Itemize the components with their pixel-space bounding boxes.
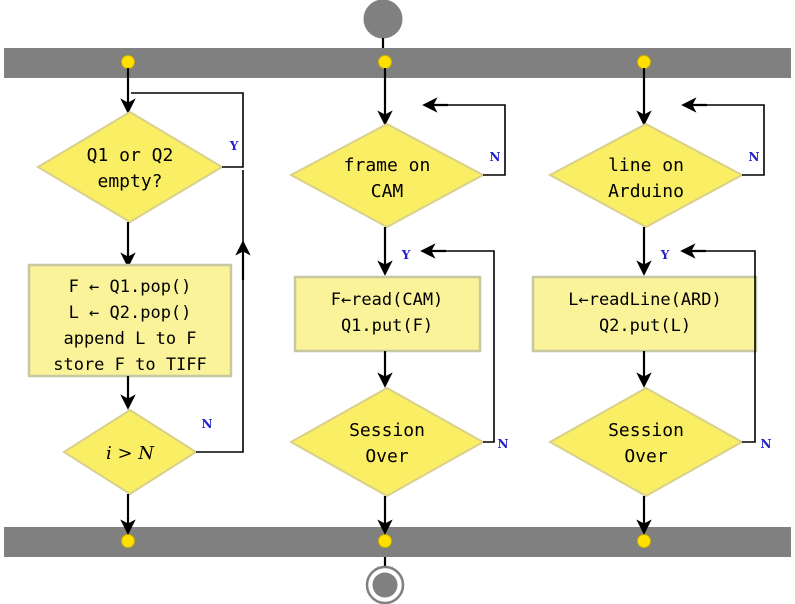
decision-q-empty [38,112,222,222]
decision-frame-on-cam-line-1: frame on [344,155,431,176]
process-read-cam [295,277,480,351]
start-node [364,0,402,38]
decision-q-empty-line-2: empty? [97,171,162,192]
decision-line-on-arduino-line-1: line on [608,155,684,176]
flowchart-svg: Q1 or Q2 empty? Y F ← Q1.pop() L ← Q2.po… [0,0,795,604]
decision-session-over-cam [291,388,483,496]
label-q-empty-yes: Y [229,139,239,153]
decision-q-empty-line-1: Q1 or Q2 [87,145,174,166]
label-session-over-cam-no: N [498,437,509,451]
process-read-line-ard-line-1: L←readLine(ARD) [568,290,722,310]
decision-line-on-arduino-line-2: Arduino [608,181,684,202]
decision-frame-on-cam-line-2: CAM [371,181,404,202]
decision-session-over-ard-line-2: Over [624,446,668,467]
decision-i-gt-n-line-1: i > N [106,443,155,464]
label-i-gt-n-no: N [202,417,213,431]
fork-dot-storage [122,56,135,69]
label-session-over-ard-no: N [761,437,772,451]
label-line-on-arduino-no: N [749,150,760,164]
label-frame-on-cam-no: N [490,150,501,164]
join-dot-camera [379,535,392,548]
flowchart-canvas: Q1 or Q2 empty? Y F ← Q1.pop() L ← Q2.po… [0,0,795,604]
process-store-frame-line-3: append L to F [63,329,196,349]
join-dot-arduino [638,535,651,548]
process-store-frame-line-4: store F to TIFF [53,355,207,375]
process-read-cam-line-1: F←read(CAM) [331,290,444,310]
label-line-on-arduino-yes: Y [660,248,670,262]
end-node [373,573,398,598]
fork-dot-camera [379,56,392,69]
fork-dot-arduino [638,56,651,69]
process-read-cam-line-2: Q1.put(F) [341,316,433,336]
process-store-frame-line-2: L ← Q2.pop() [69,303,192,323]
decision-session-over-cam-line-2: Over [365,446,409,467]
join-dot-storage [122,535,135,548]
label-frame-on-cam-yes: Y [401,248,411,262]
process-store-frame-line-1: F ← Q1.pop() [69,277,192,297]
process-read-line-ard [533,277,756,351]
decision-session-over-ard-line-1: Session [608,420,684,441]
process-read-line-ard-line-2: Q2.put(L) [599,316,691,336]
decision-session-over-ard [550,388,742,496]
decision-session-over-cam-line-1: Session [349,420,425,441]
